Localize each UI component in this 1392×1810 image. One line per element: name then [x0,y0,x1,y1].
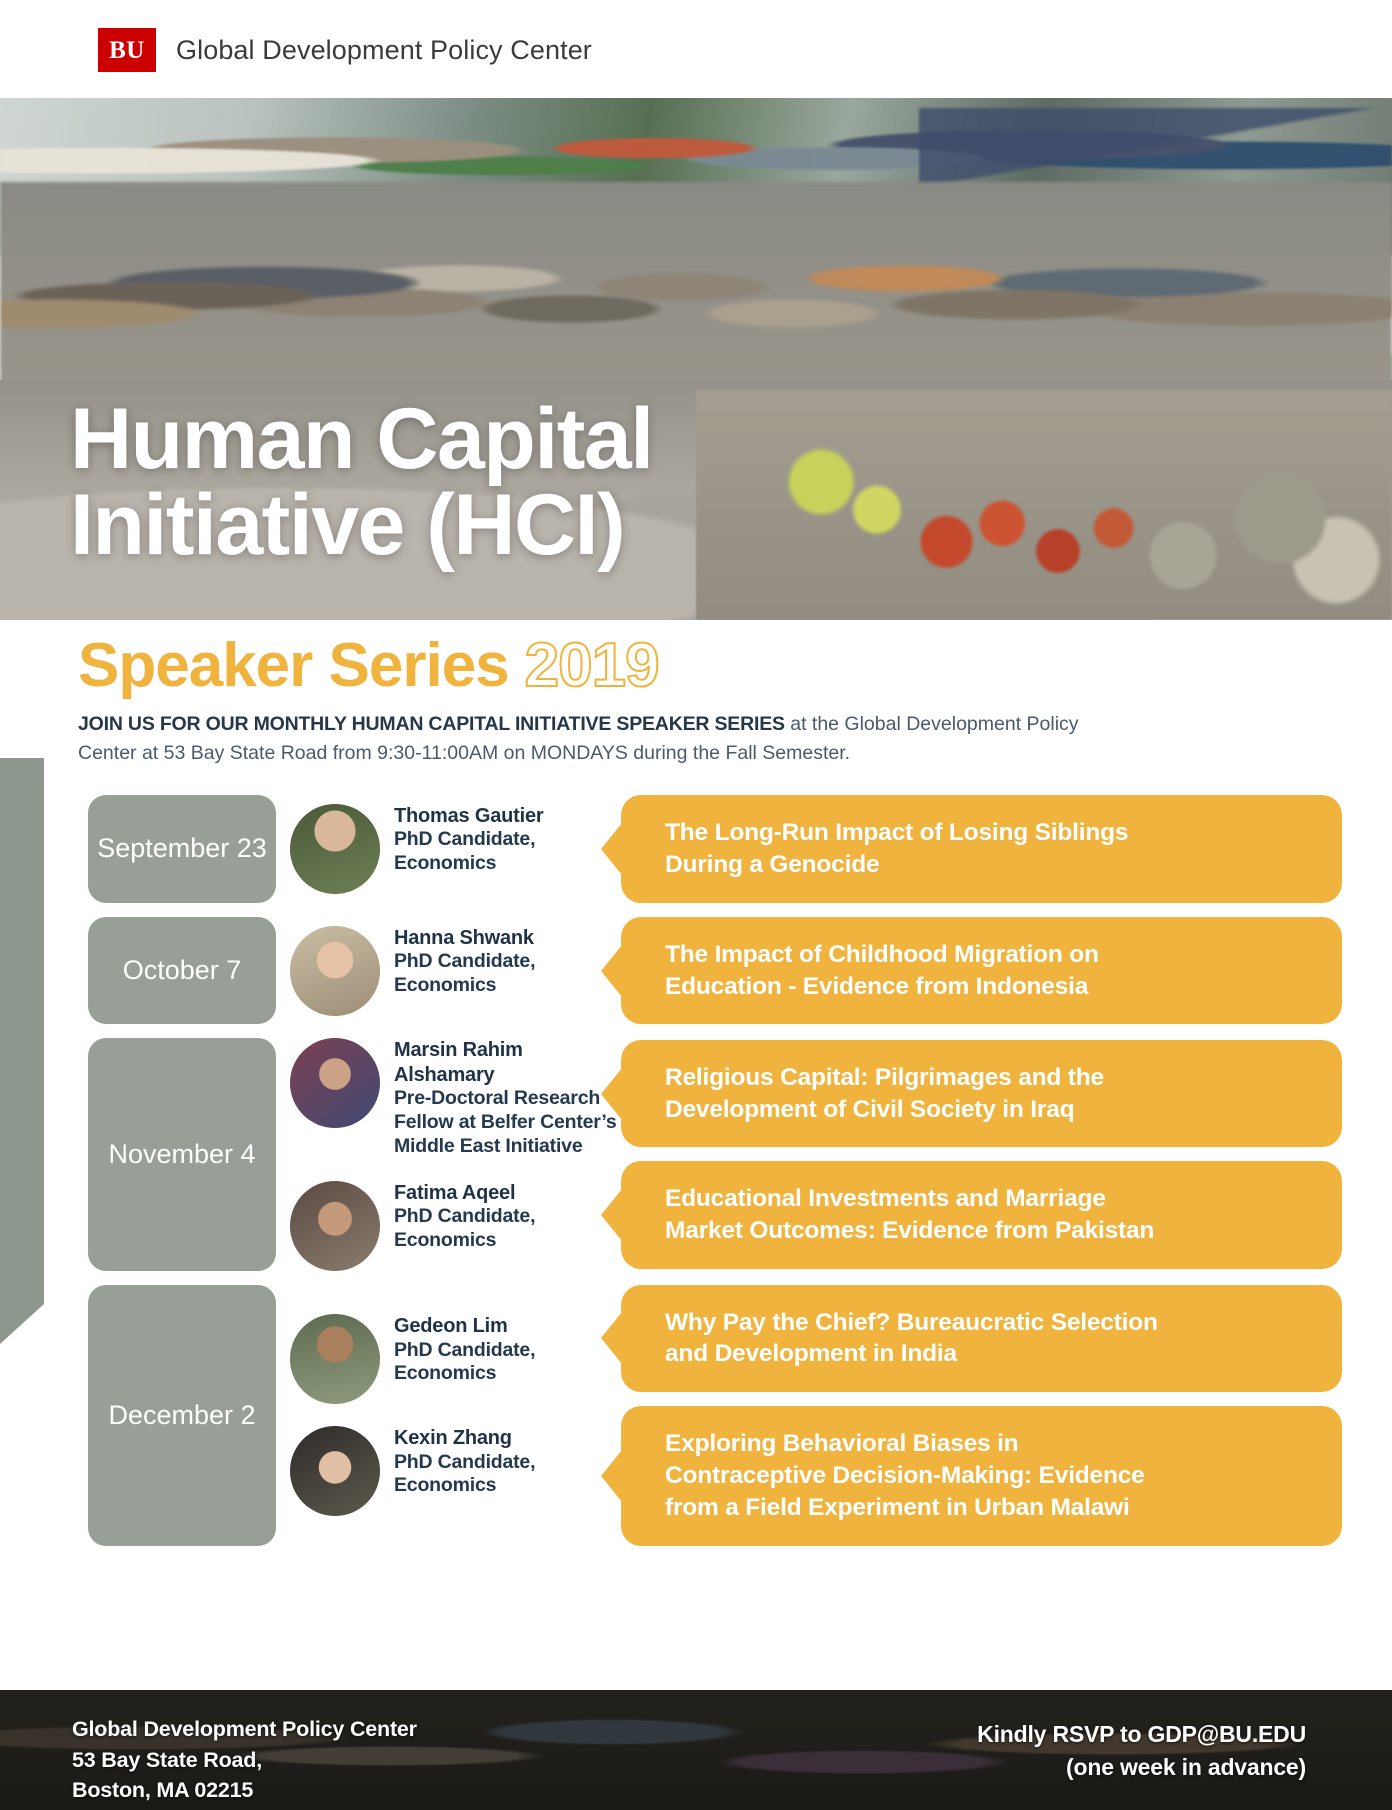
talk-title-line: and Development in India [665,1338,1312,1370]
series-year: 2019 [525,630,659,701]
talk-title-bubble: Religious Capital: Pilgrimages and theDe… [621,1040,1342,1148]
avatar [290,1181,380,1271]
talk-title-bubble: Why Pay the Chief? Bureaucratic Selectio… [621,1285,1342,1393]
speaker-name: Fatima Aqeel [394,1181,535,1205]
schedule-list: September 23Thomas GautierPhD Candidate,… [0,795,1392,1560]
speaker-name: Hanna Shwank [394,926,535,950]
series-headline: Speaker Series 2019 [78,630,659,701]
speaker-name: Marsin Rahim Alshamary [394,1038,621,1087]
hero-banner: Human Capital Initiative (HCI) [0,98,1392,620]
footer-address: Global Development Policy Center 53 Bay … [72,1714,417,1806]
footer-address-line-2: 53 Bay State Road, [72,1745,417,1776]
talk-list: The Impact of Childhood Migration onEduc… [621,917,1392,1025]
footer-rsvp-line-2: (one week in advance) [977,1751,1306,1784]
talk-title-line: The Long-Run Impact of Losing Siblings [665,817,1312,849]
talk-title-line: Religious Capital: Pilgrimages and the [665,1062,1312,1094]
speaker-role-line: Middle East Initiative [394,1135,621,1159]
talk-list: The Long-Run Impact of Losing SiblingsDu… [621,795,1392,903]
talk-list: Why Pay the Chief? Bureaucratic Selectio… [621,1285,1392,1546]
speaker-role-line: Economics [394,1474,535,1498]
talk-title-line: Exploring Behavioral Biases in [665,1428,1312,1460]
intro-paragraph: JOIN US FOR OUR MONTHLY HUMAN CAPITAL IN… [78,710,1118,769]
talk-list: Religious Capital: Pilgrimages and theDe… [621,1038,1392,1270]
footer-address-line-3: Boston, MA 02215 [72,1775,417,1806]
footer-rsvp: Kindly RSVP to GDP@BU.EDU (one week in a… [977,1718,1306,1785]
talk-title-line: Development of Civil Society in Iraq [665,1094,1312,1126]
schedule-row: November 4Marsin Rahim AlshamaryPre-Doct… [0,1038,1392,1270]
schedule-row: September 23Thomas GautierPhD Candidate,… [0,795,1392,903]
talk-title-line: Educational Investments and Marriage [665,1183,1312,1215]
speaker-list: Gedeon LimPhD Candidate,EconomicsKexin Z… [276,1285,621,1546]
date-chip: November 4 [88,1038,276,1270]
talk-title-bubble: Exploring Behavioral Biases inContracept… [621,1406,1342,1546]
date-chip: September 23 [88,795,276,903]
talk-title-line: Market Outcomes: Evidence from Pakistan [665,1215,1312,1247]
speaker-role-line: Pre-Doctoral Research [394,1087,621,1111]
footer: Global Development Policy Center 53 Bay … [0,1690,1392,1810]
speaker-role-line: Fellow at Belfer Center’s [394,1111,621,1135]
speaker: Hanna ShwankPhD Candidate,Economics [290,926,621,1016]
talk-title-line: Contraceptive Decision-Making: Evidence [665,1460,1312,1492]
speaker: Marsin Rahim AlshamaryPre-Doctoral Resea… [290,1038,621,1158]
speaker-role-line: Economics [394,1229,535,1253]
hero-title-line-1: Human Capital [70,396,653,482]
avatar [290,926,380,1016]
talk-title-line: Why Pay the Chief? Bureaucratic Selectio… [665,1307,1312,1339]
brand-header: BU Global Development Policy Center [0,0,1392,100]
avatar [290,1314,380,1404]
speaker-name: Gedeon Lim [394,1314,535,1338]
bu-logo-text: BU [109,38,148,63]
speaker-list: Hanna ShwankPhD Candidate,Economics [276,917,621,1025]
speaker: Kexin ZhangPhD Candidate,Economics [290,1426,621,1516]
speaker-role-line: PhD Candidate, [394,1451,535,1475]
talk-title-bubble: The Impact of Childhood Migration onEduc… [621,917,1342,1025]
speaker-role-line: PhD Candidate, [394,1339,535,1363]
avatar [290,1038,380,1128]
talk-title-line: from a Field Experiment in Urban Malawi [665,1492,1312,1524]
speaker-role-line: PhD Candidate, [394,1205,535,1229]
speaker-name: Kexin Zhang [394,1426,535,1450]
poster: BU Global Development Policy Center Huma… [0,0,1392,1810]
brand-name: Global Development Policy Center [176,35,592,66]
date-chip: October 7 [88,917,276,1025]
talk-title-line: Education - Evidence from Indonesia [665,971,1312,1003]
footer-address-line-1: Global Development Policy Center [72,1714,417,1745]
speaker-role-line: PhD Candidate, [394,950,535,974]
talk-title-line: The Impact of Childhood Migration on [665,939,1312,971]
intro-bold: JOIN US FOR OUR MONTHLY HUMAN CAPITAL IN… [78,713,785,735]
talk-title-bubble: Educational Investments and MarriageMark… [621,1161,1342,1269]
talk-title-line: During a Genocide [665,849,1312,881]
date-chip: December 2 [88,1285,276,1546]
avatar [290,1426,380,1516]
speaker-role-line: PhD Candidate, [394,828,543,852]
hero-title: Human Capital Initiative (HCI) [70,396,653,568]
bu-logo-icon: BU [98,28,162,72]
hero-title-line-2: Initiative (HCI) [70,482,653,568]
speaker-name: Thomas Gautier [394,804,543,828]
speaker-list: Marsin Rahim AlshamaryPre-Doctoral Resea… [276,1038,621,1270]
avatar [290,804,380,894]
speaker: Gedeon LimPhD Candidate,Economics [290,1314,621,1404]
talk-title-bubble: The Long-Run Impact of Losing SiblingsDu… [621,795,1342,903]
speaker-role-line: Economics [394,852,543,876]
speaker-list: Thomas GautierPhD Candidate,Economics [276,795,621,903]
speaker-role-line: Economics [394,974,535,998]
schedule-row: October 7Hanna ShwankPhD Candidate,Econo… [0,917,1392,1025]
speaker: Fatima AqeelPhD Candidate,Economics [290,1181,621,1271]
schedule-row: December 2Gedeon LimPhD Candidate,Econom… [0,1285,1392,1546]
speaker: Thomas GautierPhD Candidate,Economics [290,804,621,894]
series-label: Speaker Series [78,630,509,701]
footer-rsvp-line-1[interactable]: Kindly RSVP to GDP@BU.EDU [977,1718,1306,1751]
speaker-role-line: Economics [394,1362,535,1386]
